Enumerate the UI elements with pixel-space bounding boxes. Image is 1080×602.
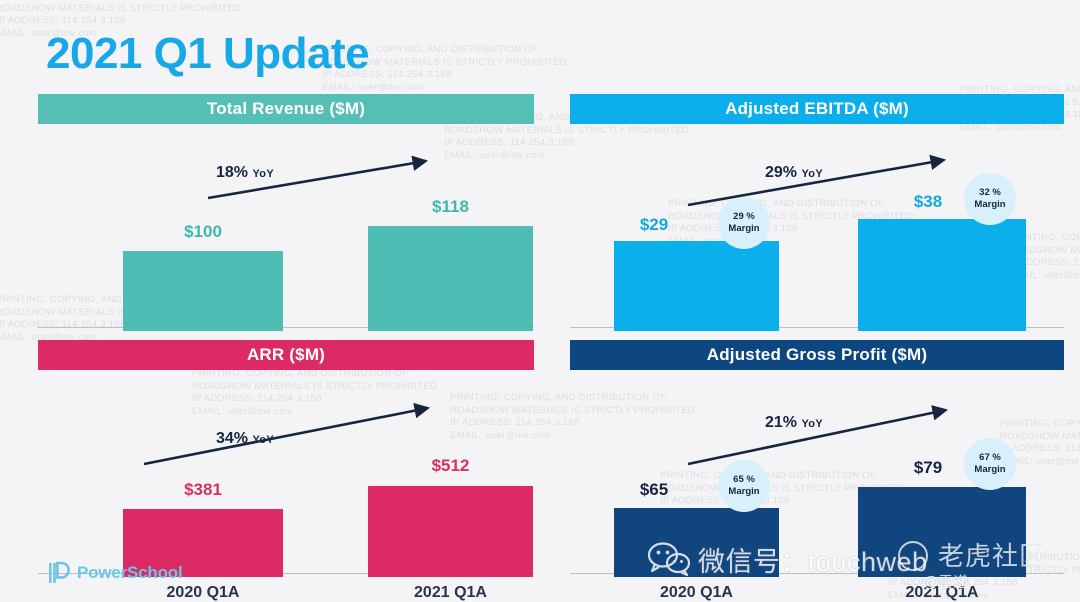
- powerschool-logo-text: PowerSchool: [77, 563, 183, 583]
- chart-panel-total-revenue: Total Revenue ($M) $100 $118 18% YoY: [38, 94, 534, 332]
- growth-suffix: YoY: [252, 434, 273, 446]
- margin-label: Margin: [728, 486, 759, 498]
- chart-panel-arr: ARR ($M) $381 $512 34% YoY 2020 Q1A 2021: [38, 340, 534, 578]
- category-label-2021-q1a: 2021 Q1A: [858, 584, 1026, 602]
- margin-pct: 29 %: [733, 211, 755, 223]
- watermark-line-4: EMAIL: user@me.com: [322, 82, 423, 93]
- plot-area-total-revenue: $100 $118 18% YoY 2020 Q1A 2021 Q1A: [38, 142, 534, 332]
- growth-pct: 29%: [765, 164, 797, 181]
- watermark-line-2: ROADSHOW MATERIALS IS STRICTLY PROHIBITE…: [0, 3, 241, 14]
- growth-pct: 21%: [765, 414, 797, 431]
- margin-label: Margin: [974, 199, 1005, 211]
- watermark-line-1: PRINTING, COPYING, AND DISTRIBUTION OF: [0, 0, 212, 1]
- margin-bubble-2021-q1a: 67 % Margin: [964, 438, 1016, 490]
- chart-title-adjusted-ebitda: Adjusted EBITDA ($M): [570, 94, 1064, 124]
- margin-label: Margin: [728, 223, 759, 235]
- margin-label: Margin: [974, 464, 1005, 476]
- growth-pct: 34%: [216, 430, 248, 447]
- growth-arrow-icon: [38, 388, 534, 578]
- watermark-line-3: IP ADDRESS: 114.254.3.188: [0, 15, 126, 26]
- category-label-2021-q1a: 2021 Q1A: [368, 584, 533, 602]
- plot-area-adjusted-ebitda: $29 $38 29% YoY 29 % Margin 32 %: [570, 142, 1064, 332]
- chart-title-total-revenue: Total Revenue ($M): [38, 94, 534, 124]
- margin-bubble-2020-q1a: 29 % Margin: [718, 197, 770, 249]
- margin-pct: 65 %: [733, 474, 755, 486]
- category-label-2020-q1a: 2020 Q1A: [123, 584, 283, 602]
- chart-panel-adjusted-ebitda: Adjusted EBITDA ($M) $29 $38 29% YoY: [570, 94, 1064, 332]
- growth-label-arr: 34% YoY: [216, 430, 274, 448]
- growth-label-total-revenue: 18% YoY: [216, 164, 274, 182]
- growth-label-adjusted-ebitda: 29% YoY: [765, 164, 823, 182]
- margin-bubble-2021-q1a: 32 % Margin: [964, 173, 1016, 225]
- growth-pct: 18%: [216, 164, 248, 181]
- page-title: 2021 Q1 Update: [46, 28, 369, 80]
- plot-area-adjusted-gross-profit: $65 $79 21% YoY 65 % Margin 67 %: [570, 388, 1064, 578]
- growth-suffix: YoY: [801, 168, 822, 180]
- chart-title-adjusted-gross-profit: Adjusted Gross Profit ($M): [570, 340, 1064, 370]
- chart-panel-adjusted-gross-profit: Adjusted Gross Profit ($M) $65 $79 21% Y…: [570, 340, 1064, 578]
- powerschool-logo: PowerSchool: [48, 561, 183, 585]
- margin-pct: 32 %: [979, 187, 1001, 199]
- tiger-community-mark-icon: [898, 541, 928, 571]
- chart-title-arr: ARR ($M): [38, 340, 534, 370]
- category-label-2020-q1a: 2020 Q1A: [614, 584, 779, 602]
- growth-suffix: YoY: [801, 418, 822, 430]
- margin-pct: 67 %: [979, 452, 1001, 464]
- powerschool-p-icon: [48, 561, 70, 585]
- growth-label-adjusted-gross-profit: 21% YoY: [765, 414, 823, 432]
- growth-arrow-icon: [38, 142, 534, 332]
- slide-canvas: PRINTING, COPYING, AND DISTRIBUTION OF R…: [0, 0, 1080, 602]
- growth-suffix: YoY: [252, 168, 273, 180]
- margin-bubble-2020-q1a: 65 % Margin: [718, 460, 770, 512]
- plot-area-arr: $381 $512 34% YoY 2020 Q1A 2021 Q1A: [38, 388, 534, 578]
